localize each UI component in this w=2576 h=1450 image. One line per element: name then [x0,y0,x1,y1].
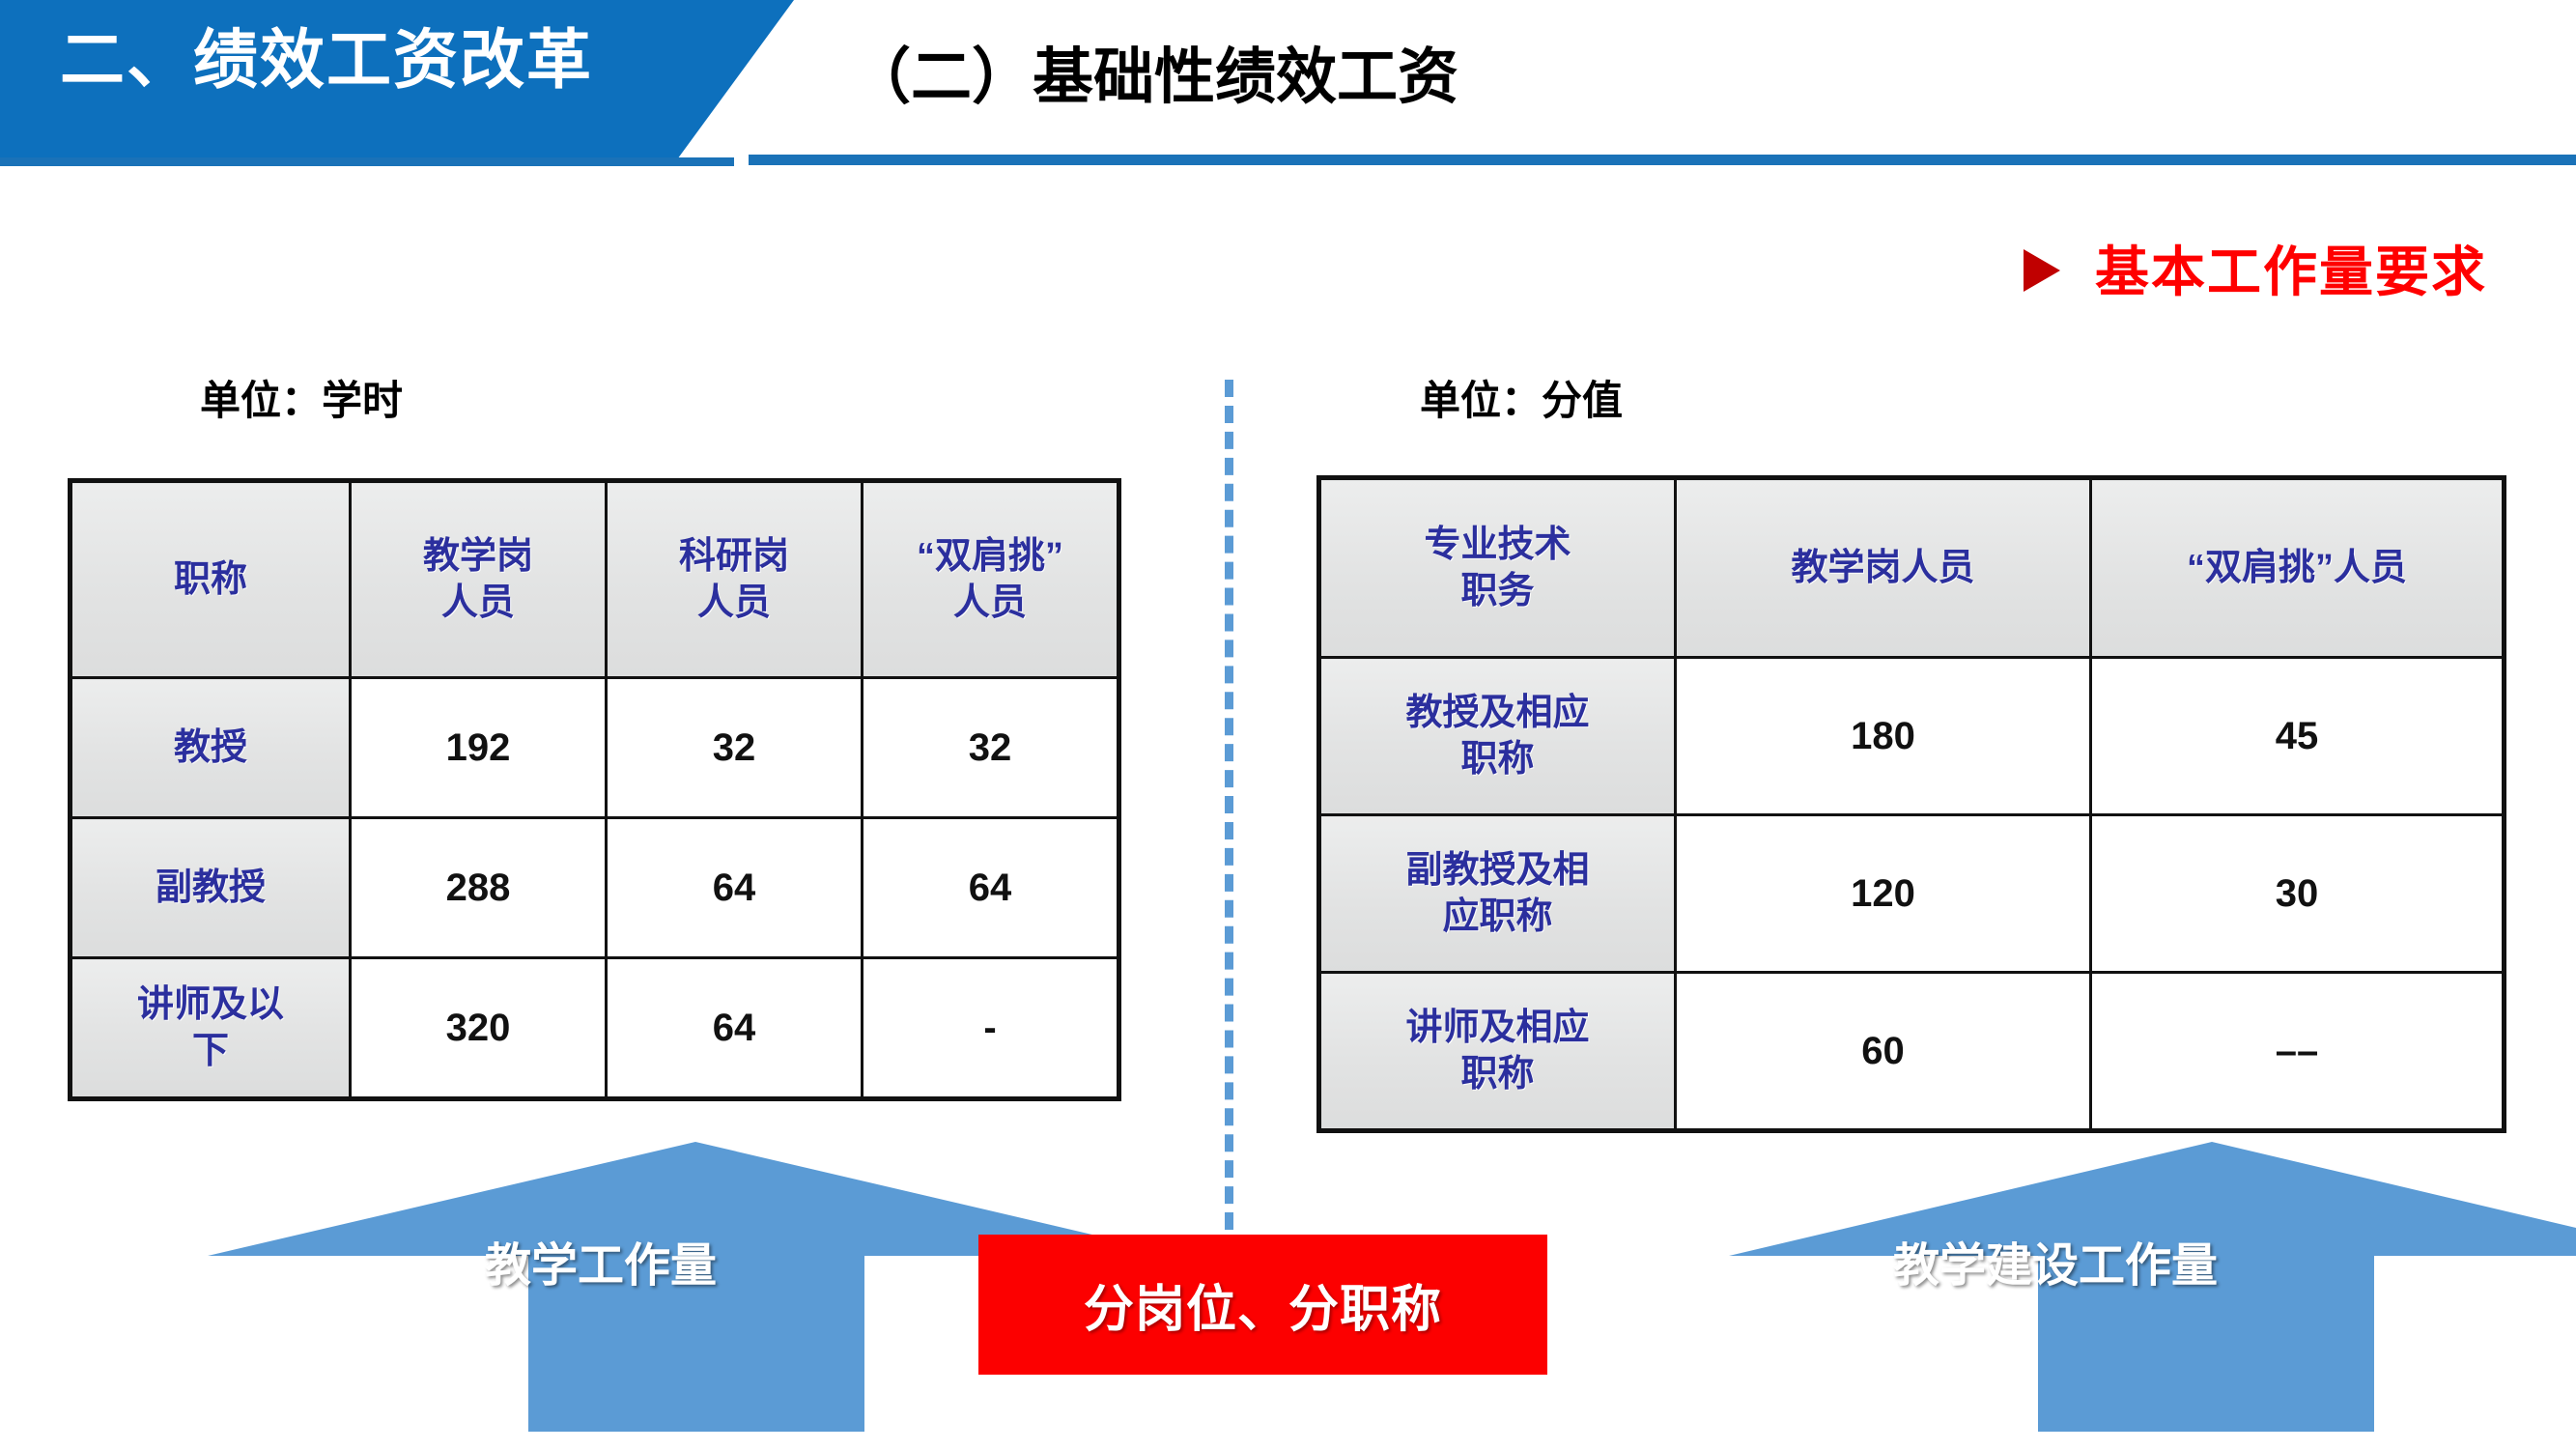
row-label: 教授 [71,678,351,818]
table-header-row: 职称 教学岗 人员 科研岗 人员 “双肩挑” 人员 [71,481,1119,678]
teaching-construction-workload-arrow: 教学建设工作量 [1729,1142,2576,1432]
column-header-dual-role-line1: “双肩挑”人员 [2096,545,2498,591]
table-row: 讲师及以 下 320 64 - [71,958,1119,1099]
row-label: 副教授及相 应职称 [1319,815,1676,973]
column-header-professional-title-line2: 职务 [1325,568,1670,614]
vertical-dashed-divider [1225,380,1233,1256]
row-label-line2: 职称 [1325,736,1670,782]
column-header-research-post-line1: 科研岗 [611,533,857,580]
row-label: 副教授 [71,818,351,958]
column-header-title-line1: 职称 [76,556,345,603]
cell-value: 320 [351,958,607,1099]
cell-value: 192 [351,678,607,818]
row-label-line2: 应职称 [1325,894,1670,940]
column-header-dual-role: “双肩挑” 人员 [863,481,1119,678]
table-row: 副教授 288 64 64 [71,818,1119,958]
teaching-points-table: 专业技术 职务 教学岗人员 “双肩挑”人员 教授及相应 职称 180 45 [1316,475,2506,1133]
row-label-line1: 副教授 [76,865,345,911]
row-label-line1: 讲师及以 [76,981,345,1028]
column-header-research-post-line2: 人员 [611,580,857,626]
cell-value: 288 [351,818,607,958]
cell-value: 64 [607,958,863,1099]
slide-canvas: 二、绩效工资改革 （二）基础性绩效工资 基本工作量要求 单位：学时 单位：分值 … [0,0,2576,1450]
column-header-research-post: 科研岗 人员 [607,481,863,678]
triangle-right-bullet-icon [2024,249,2060,292]
row-label: 讲师及以 下 [71,958,351,1099]
cell-value: 180 [1676,658,2091,815]
row-label: 教授及相应 职称 [1319,658,1676,815]
cell-value: - [863,958,1119,1099]
row-label-line2: 职称 [1325,1051,1670,1097]
left-unit-caption: 单位：学时 [200,368,403,427]
cell-value: 45 [2091,658,2505,815]
teaching-hours-table: 职称 教学岗 人员 科研岗 人员 “双肩挑” 人员 教授 [68,478,1121,1101]
teaching-workload-arrow-label: 教学工作量 [485,1227,717,1294]
page-title: （二）基础性绩效工资 [850,19,2106,135]
cell-value: 64 [607,818,863,958]
table-row: 讲师及相应 职称 60 –– [1319,973,2505,1131]
column-header-teaching-post-line2: 人员 [355,580,601,626]
row-label-line1: 教授 [76,725,345,771]
row-label: 讲师及相应 职称 [1319,973,1676,1131]
basic-workload-heading: 基本工作量要求 [2024,229,2487,307]
column-header-teaching-post-line1: 教学岗 [355,533,601,580]
cell-value: 32 [863,678,1119,818]
cell-value: 60 [1676,973,2091,1131]
column-header-professional-title: 专业技术 职务 [1319,478,1676,658]
table-row: 教授及相应 职称 180 45 [1319,658,2505,815]
section-title: 二、绩效工资改革 [60,17,736,104]
cell-value: 64 [863,818,1119,958]
cell-value: –– [2091,973,2505,1131]
header-rule-right [749,155,2576,165]
table-row: 教授 192 32 32 [71,678,1119,818]
callout-banner-label: 分岗位、分职称 [1084,1268,1442,1341]
row-label-line2: 下 [76,1028,345,1074]
right-unit-caption: 单位：分值 [1420,368,1623,427]
callout-banner: 分岗位、分职称 [978,1235,1547,1375]
table-header-row: 专业技术 职务 教学岗人员 “双肩挑”人员 [1319,478,2505,658]
basic-workload-heading-label: 基本工作量要求 [2095,229,2487,307]
row-label-line1: 教授及相应 [1325,690,1670,736]
column-header-dual-role-line1: “双肩挑” [867,533,1113,580]
column-header-professional-title-line1: 专业技术 [1325,522,1670,568]
teaching-construction-workload-arrow-label: 教学建设工作量 [1893,1227,2218,1294]
cell-value: 30 [2091,815,2505,973]
column-header-teaching-post: 教学岗 人员 [351,481,607,678]
column-header-dual-role: “双肩挑”人员 [2091,478,2505,658]
cell-value: 120 [1676,815,2091,973]
header-rule-left [0,157,734,166]
row-label-line1: 副教授及相 [1325,847,1670,894]
column-header-teaching-post-line1: 教学岗人员 [1681,545,2085,591]
column-header-dual-role-line2: 人员 [867,580,1113,626]
row-label-line1: 讲师及相应 [1325,1005,1670,1051]
table-row: 副教授及相 应职称 120 30 [1319,815,2505,973]
column-header-title: 职称 [71,481,351,678]
cell-value: 32 [607,678,863,818]
column-header-teaching-post: 教学岗人员 [1676,478,2091,658]
